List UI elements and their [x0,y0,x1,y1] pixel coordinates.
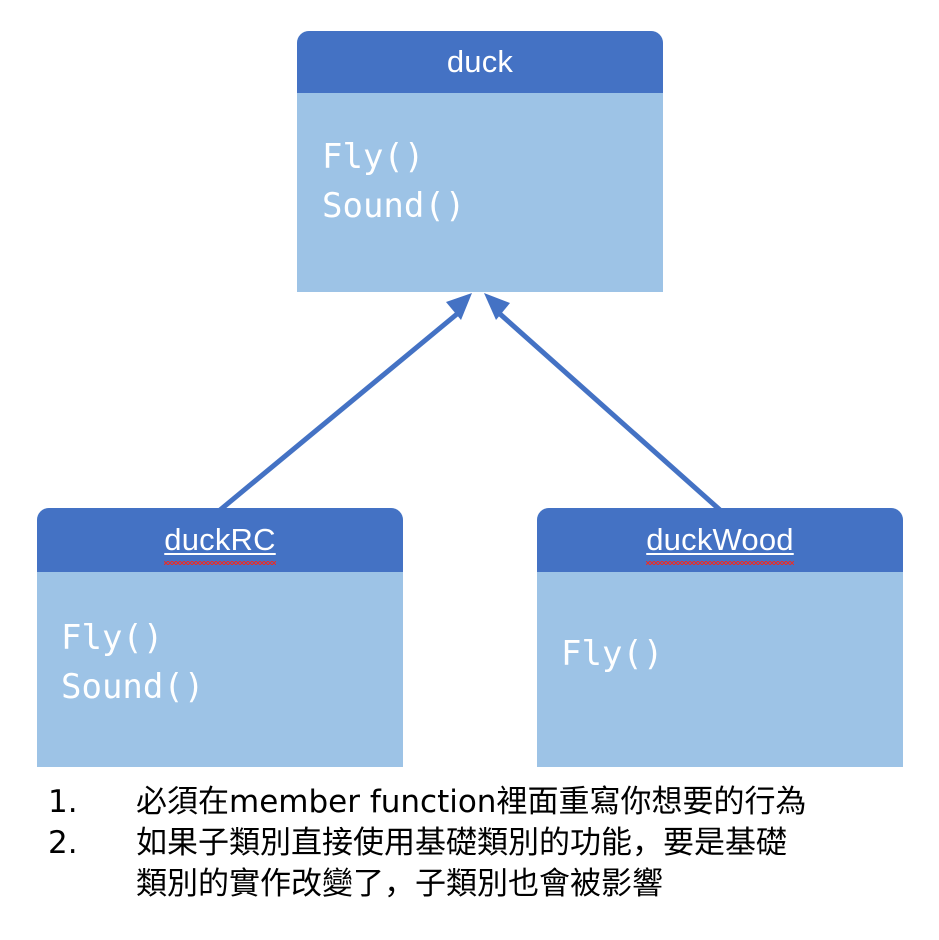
list-item: 1. 必須在member function裡面重寫你想要的行為 [48,782,928,823]
class-box-duckwood[interactable]: duckWood Fly() [537,508,903,767]
list-item-text: 必須在member function裡面重寫你想要的行為 [136,782,928,823]
class-name-duck: duck [447,44,513,80]
list-item-line: 類別的實作改變了，子類別也會被影響 [136,864,928,905]
class-name-duckrc: duckRC [164,522,275,558]
class-box-duckrc[interactable]: duckRC Fly() Sound() [37,508,403,767]
list-item: 2. 如果子類別直接使用基礎類別的功能，要是基礎 類別的實作改變了，子類別也會被… [48,823,928,905]
class-methods-duck: Fly() Sound() [297,93,663,232]
inheritance-arrow-duckrc-to-duck [220,293,472,510]
list-item-line: 必須在member function裡面重寫你想要的行為 [136,782,928,823]
list-item-marker: 2. [48,823,136,864]
class-methods-duckwood: Fly() [537,572,903,679]
class-header-duckrc: duckRC [37,508,403,572]
notes-list: 1. 必須在member function裡面重寫你想要的行為 2. 如果子類別… [48,782,928,905]
list-item-marker: 1. [48,782,136,823]
list-item-text: 如果子類別直接使用基礎類別的功能，要是基礎 類別的實作改變了，子類別也會被影響 [136,823,928,905]
class-methods-duckrc: Fly() Sound() [37,572,403,713]
inheritance-arrow-duckwood-to-duck [484,293,720,510]
class-box-duck[interactable]: duck Fly() Sound() [297,31,663,292]
list-item-line: 如果子類別直接使用基礎類別的功能，要是基礎 [136,823,928,864]
class-header-duckwood: duckWood [537,508,903,572]
class-name-duckwood: duckWood [646,522,794,558]
class-header-duck: duck [297,31,663,93]
slide-canvas: duck Fly() Sound() duckRC Fly() Sound() … [0,0,939,940]
